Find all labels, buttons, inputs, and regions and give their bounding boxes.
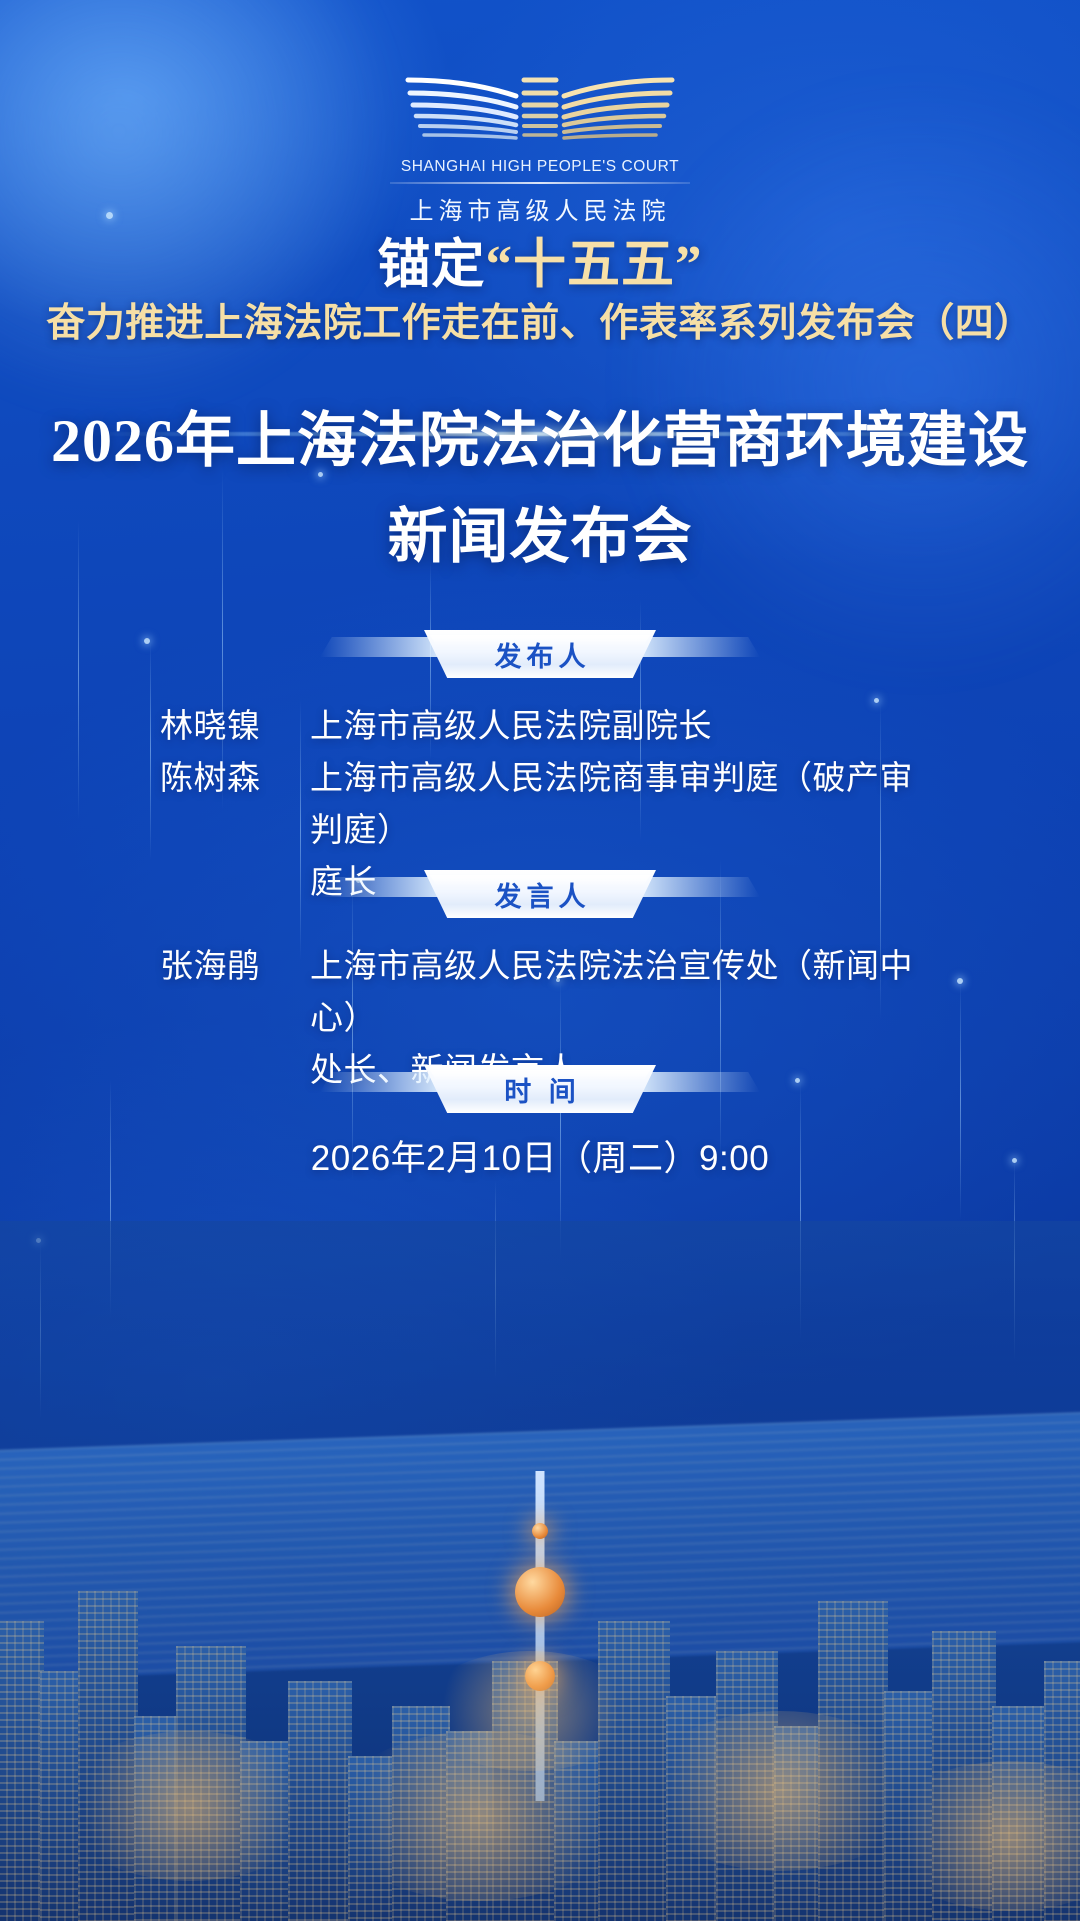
banner-wing-right [642,877,760,897]
kicker-highlight: “十五五” [486,236,703,294]
banner-label: 发言人 [424,870,656,918]
event-time-value: 2026年2月10日（周二）9:00 [0,1130,1080,1181]
banner-wing-left [320,637,438,657]
banner-wing-left [320,1072,438,1092]
banner-wing-left [320,877,438,897]
person-name: 张海鹃 [160,940,310,992]
kicker-prefix: 锚定 [378,236,486,294]
logo-chinese-name: 上海市高级人民法院 [330,191,750,226]
court-logo: SHANGHAI HIGH PEOPLE'S COURT 上海市高级人民法院 [330,62,750,226]
section-banner-presenters: 发布人 [424,630,656,678]
section-banner-spokesperson: 发言人 [424,870,656,918]
kicker-heading: 锚定“十五五” [0,222,1080,298]
shanghai-skyline-illustration [0,1221,1080,1921]
person-title: 上海市高级人民法院副院长 [310,700,920,752]
logo-divider [390,182,690,184]
person-name: 陈树森 [160,752,310,804]
list-item: 林晓镍 上海市高级人民法院副院长 [160,700,920,752]
banner-wing-right [642,1072,760,1092]
banner-wing-right [642,637,760,657]
person-title-line1: 上海市高级人民法院法治宣传处（新闻中心） [310,947,913,1036]
page-title: 2026年上海法院法治化营商环境建设 新闻发布会 [0,393,1080,585]
sub-kicker-heading: 奋力推进上海法院工作走在前、作表率系列发布会（四） [0,292,1080,348]
section-banner-time: 时 间 [424,1065,656,1113]
person-title-line1: 上海市高级人民法院商事审判庭（破产审判庭） [310,759,913,848]
person-name: 林晓镍 [160,700,310,752]
page-title-line1: 2026年上海法院法治化营商环境建设 [0,393,1080,489]
court-emblem-icon [390,62,690,150]
page-title-line2: 新闻发布会 [0,489,1080,585]
logo-english-name: SHANGHAI HIGH PEOPLE'S COURT [330,158,750,176]
banner-label: 发布人 [424,630,656,678]
banner-label: 时 间 [424,1065,656,1113]
